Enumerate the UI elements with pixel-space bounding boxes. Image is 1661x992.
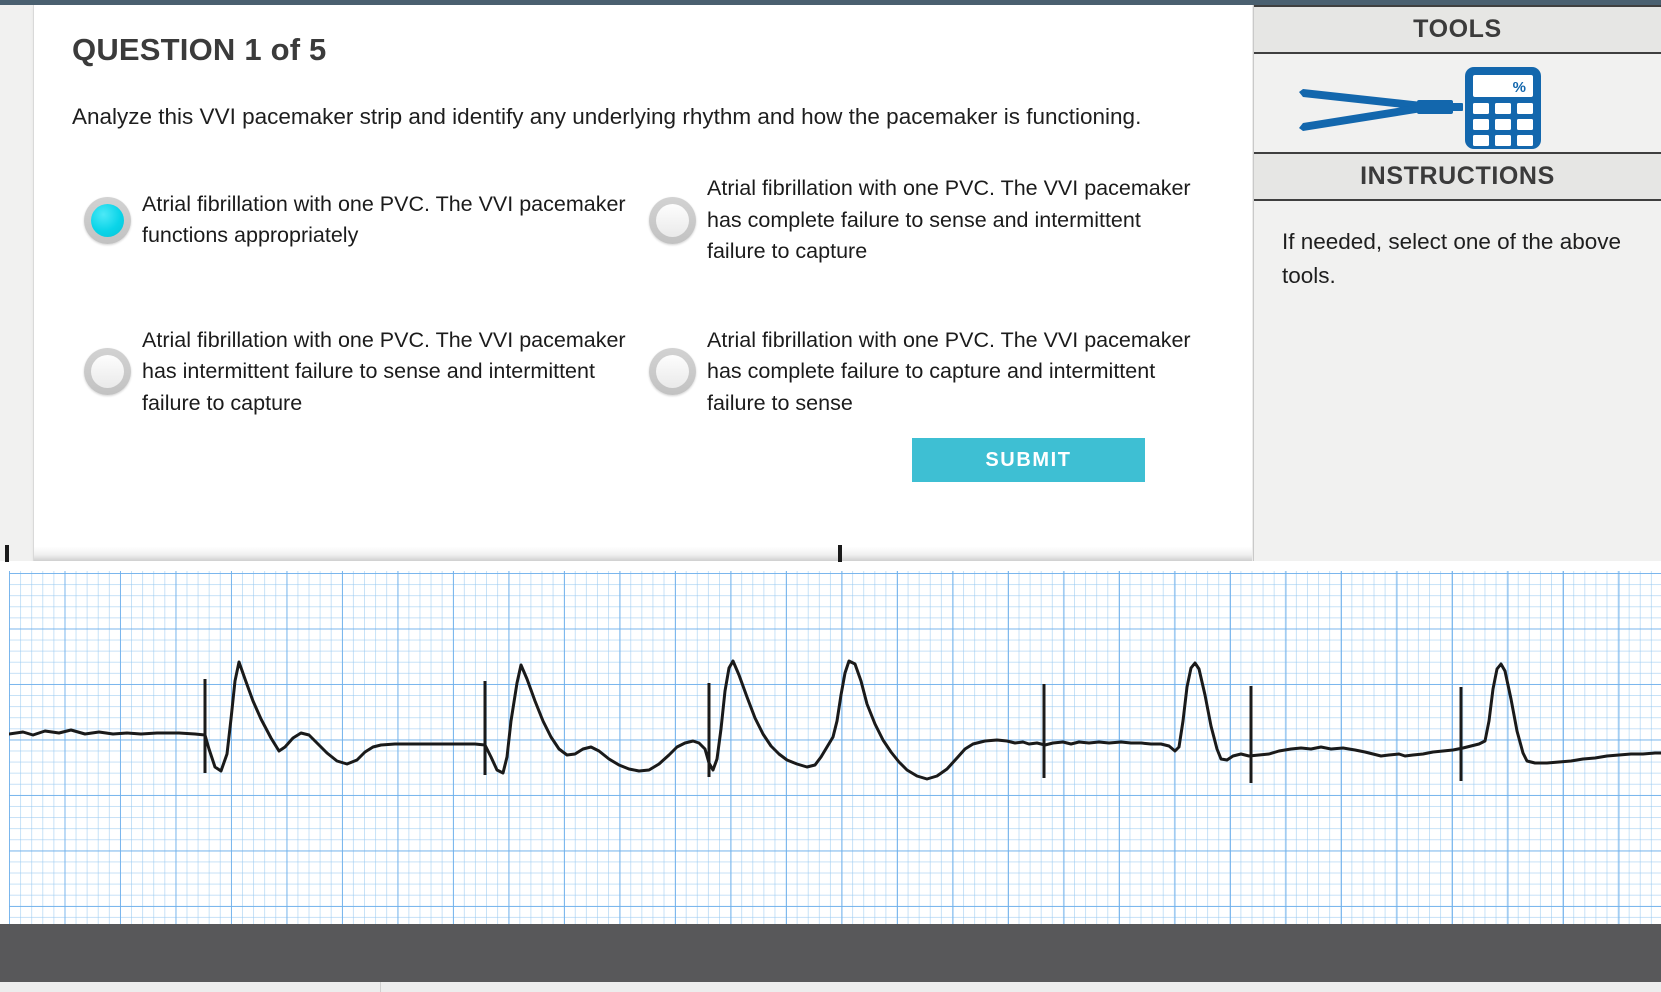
ecg-gap [0,561,1661,571]
tools-body: % [1254,54,1661,152]
caliper-icon[interactable] [1297,76,1477,143]
answer-options-group: Atrial fibrillation with one PVC. The VV… [72,173,1202,419]
answer-option-b[interactable]: Atrial fibrillation with one PVC. The VV… [637,173,1202,268]
answer-option-d[interactable]: Atrial fibrillation with one PVC. The VV… [637,325,1202,420]
radio-button-d[interactable] [649,348,696,395]
answer-options-row: Atrial fibrillation with one PVC. The VV… [72,325,1202,420]
answer-option-a[interactable]: Atrial fibrillation with one PVC. The VV… [72,173,637,268]
radio-button-c[interactable] [84,348,131,395]
ecg-tick-mid [838,545,842,562]
page-title: QUESTION 1 of 5 [72,32,326,68]
ecg-tick-left [5,545,9,562]
bottom-edge-seam [380,982,381,992]
answer-options-row: Atrial fibrillation with one PVC. The VV… [72,173,1202,268]
ecg-waveform [9,661,1661,779]
tools-heading: TOOLS [1254,5,1661,54]
instructions-text: If needed, select one of the above tools… [1282,225,1633,293]
answer-option-c-label: Atrial fibrillation with one PVC. The VV… [142,325,637,420]
quiz-region: QUESTION 1 of 5 Analyze this VVI pacemak… [0,5,1661,561]
ecg-strip [0,571,1661,924]
calculator-icon[interactable]: % [1462,64,1544,157]
bottom-bar [0,924,1661,982]
radio-inner-a [91,204,124,237]
radio-wrap-c [72,348,142,395]
radio-wrap-a [72,197,142,244]
answer-option-c[interactable]: Atrial fibrillation with one PVC. The VV… [72,325,637,420]
question-card: QUESTION 1 of 5 Analyze this VVI pacemak… [33,5,1252,561]
calculator-display-symbol: % [1513,79,1526,96]
answer-option-a-label: Atrial fibrillation with one PVC. The VV… [142,189,637,252]
radio-wrap-d [637,348,707,395]
submit-button[interactable]: SUBMIT [912,438,1145,482]
radio-inner-c [91,355,124,388]
tools-side-panel: TOOLS % [1253,5,1661,566]
ecg-trace-svg [9,571,1661,924]
ecg-grid-paper [9,571,1661,924]
answer-option-b-label: Atrial fibrillation with one PVC. The VV… [707,173,1202,268]
radio-inner-d [656,355,689,388]
radio-button-b[interactable] [649,197,696,244]
instructions-heading: INSTRUCTIONS [1254,152,1661,201]
bottom-edge [0,982,1661,992]
instructions-body: If needed, select one of the above tools… [1254,201,1661,293]
page-root: QUESTION 1 of 5 Analyze this VVI pacemak… [0,0,1661,992]
answer-option-d-label: Atrial fibrillation with one PVC. The VV… [707,325,1202,420]
radio-button-a[interactable] [84,197,131,244]
question-stem: Analyze this VVI pacemaker strip and ide… [72,100,1142,133]
radio-wrap-b [637,197,707,244]
radio-inner-b [656,204,689,237]
